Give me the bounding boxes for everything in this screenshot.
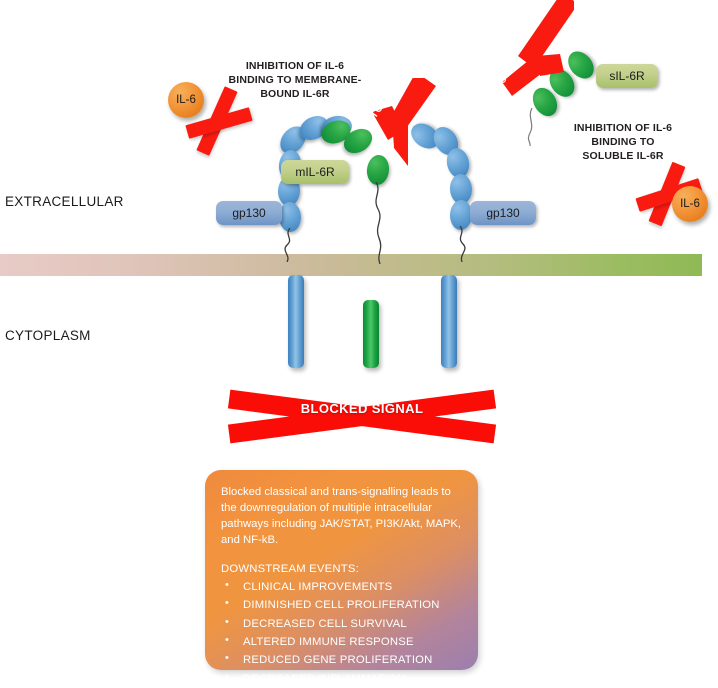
downstream-events-list: CLINICAL IMPROVEMENTS DIMINISHED CELL PR… (221, 578, 462, 688)
blocked-signal-label: BLOCKED SIGNAL (228, 401, 496, 416)
callout-soluble-line-2: BINDING TO (548, 136, 698, 150)
callout-membrane-line-2: BINDING TO MEMBRANE- (212, 74, 378, 88)
diagram-canvas: EXTRACELLULAR CYTOPLASM INHIBITION OF IL… (0, 0, 718, 681)
downstream-info-box: Blocked classical and trans-signalling l… (205, 470, 478, 670)
list-item: DECREASED CELL SURVIVAL (221, 615, 462, 633)
list-item: CLINICAL IMPROVEMENTS (221, 578, 462, 596)
gp130-transmembrane-left (288, 275, 304, 368)
tocilizumab-antibody-top: TOCILIZUMAB (490, 0, 574, 106)
cell-membrane (0, 254, 702, 276)
callout-membrane-line-1: INHIBITION OF IL-6 (212, 60, 378, 74)
linker-gp130-left (278, 228, 314, 262)
gp130-label-right: gp130 (470, 201, 536, 225)
callout-soluble: INHIBITION OF IL-6 BINDING TO SOLUBLE IL… (548, 122, 698, 164)
tocilizumab-antibody-center: TOCILIZUMAB (368, 78, 444, 174)
sil6r-label: sIL-6R (596, 64, 658, 88)
linker-sil6r (524, 108, 540, 146)
gp130-label-left: gp130 (216, 201, 282, 225)
list-item: REDUCED GENE PROLIFERATION (221, 651, 462, 669)
linker-mil6r (366, 182, 396, 264)
list-item: DECREASED INFLAMMATION (221, 670, 462, 688)
il6-molecule-right: IL-6 (672, 186, 708, 222)
list-item: ALTERED IMMUNE RESPONSE (221, 633, 462, 651)
callout-soluble-line-1: INHIBITION OF IL-6 (548, 122, 698, 136)
blocker-x-left (190, 88, 252, 156)
info-intro-text: Blocked classical and trans-signalling l… (221, 484, 462, 548)
blocked-signal-banner: BLOCKED SIGNAL (228, 385, 496, 447)
gp130-transmembrane-right (441, 275, 457, 368)
extracellular-label: EXTRACELLULAR (5, 194, 124, 209)
linker-gp130-right (448, 226, 484, 262)
cytoplasm-label: CYTOPLASM (5, 328, 91, 343)
list-item: DIMINISHED CELL PROLIFERATION (221, 596, 462, 614)
callout-soluble-line-3: SOLUBLE IL-6R (548, 150, 698, 164)
downstream-events-heading: DOWNSTREAM EVENTS: (221, 563, 462, 575)
mil6r-transmembrane (363, 300, 379, 368)
mil6r-label: mIL-6R (281, 160, 349, 184)
